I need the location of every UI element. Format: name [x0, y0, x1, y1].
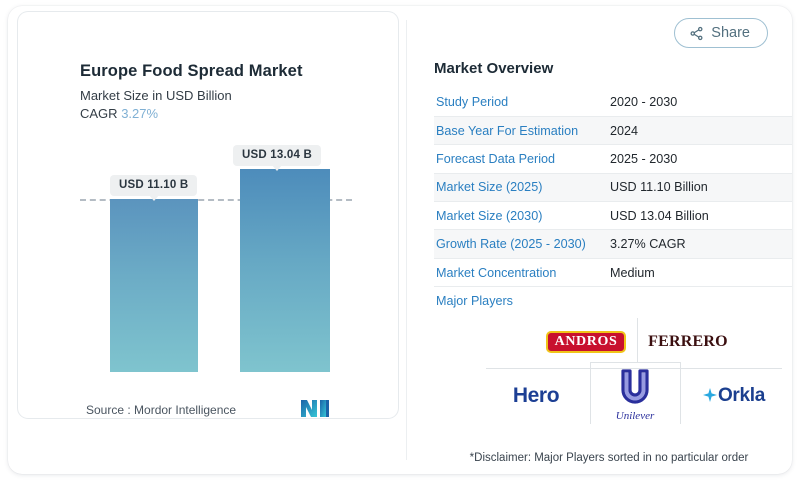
- chart-panel: Europe Food Spread Market Market Size in…: [18, 12, 398, 418]
- overview-value: USD 13.04 Billion: [608, 202, 792, 230]
- grid-line: [637, 318, 638, 362]
- bar-chart-plot: USD 11.10 B USD 13.04 B 2025 2030: [18, 142, 398, 372]
- overview-value: Medium: [608, 258, 792, 286]
- overview-value: 2024: [608, 116, 792, 144]
- table-row: Growth Rate (2025 - 2030) 3.27% CAGR: [434, 230, 792, 258]
- chart-cagr: CAGR 3.27%: [80, 106, 158, 121]
- andros-logo-label: ANDROS: [546, 331, 627, 354]
- grid-line: [590, 362, 591, 424]
- orkla-star-icon: [703, 387, 718, 405]
- table-row: Study Period 2020 - 2030: [434, 88, 792, 116]
- hero-logo-label: Hero: [513, 384, 559, 408]
- table-row: Base Year For Estimation 2024: [434, 116, 792, 144]
- table-row: Market Concentration Medium: [434, 258, 792, 286]
- player-logo-hero: Hero: [488, 374, 584, 418]
- overview-key: Market Size (2030): [434, 202, 608, 230]
- table-row: Major Players: [434, 287, 792, 315]
- player-logo-unilever: Unilever: [592, 366, 678, 424]
- bar-2025[interactable]: [110, 199, 198, 372]
- overview-key: Study Period: [434, 88, 608, 116]
- table-row: Market Size (2030) USD 13.04 Billion: [434, 202, 792, 230]
- cagr-label: CAGR: [80, 106, 118, 121]
- share-icon: [689, 26, 704, 41]
- chart-subtitle: Market Size in USD Billion: [80, 88, 232, 103]
- orkla-logo-label: Orkla: [703, 385, 765, 407]
- bar-2030[interactable]: [240, 169, 330, 372]
- player-logo-orkla: Orkla: [686, 374, 782, 418]
- overview-value: 2020 - 2030: [608, 88, 792, 116]
- player-logo-ferrero: FERRERO: [640, 322, 736, 362]
- major-players-logo-grid: ANDROS FERRERO Hero Unilever: [518, 318, 733, 418]
- overview-key: Growth Rate (2025 - 2030): [434, 230, 608, 258]
- overview-value: 2025 - 2030: [608, 145, 792, 173]
- bar-value-label-2030: USD 13.04 B: [233, 145, 321, 166]
- share-button-label: Share: [711, 25, 750, 41]
- disclaimer-text: *Disclaimer: Major Players sorted in no …: [426, 452, 792, 464]
- overview-key: Forecast Data Period: [434, 145, 608, 173]
- mordor-intelligence-logo-icon: [300, 398, 330, 418]
- overview-value: USD 11.10 Billion: [608, 173, 792, 201]
- overview-value: 3.27% CAGR: [608, 230, 792, 258]
- overview-key: Market Concentration: [434, 258, 608, 286]
- ferrero-logo-label: FERRERO: [648, 333, 728, 351]
- chart-source: Source : Mordor Intelligence: [86, 403, 236, 417]
- overview-value: [608, 287, 792, 315]
- player-logo-andros: ANDROS: [538, 322, 634, 362]
- chart-title: Europe Food Spread Market: [80, 62, 303, 81]
- table-row: Market Size (2025) USD 11.10 Billion: [434, 173, 792, 201]
- orkla-logo-text: Orkla: [718, 385, 765, 407]
- overview-key: Major Players: [434, 287, 608, 315]
- bar-value-label-2025: USD 11.10 B: [110, 175, 197, 196]
- panel-divider: [406, 20, 407, 460]
- overview-title: Market Overview: [434, 60, 553, 77]
- market-overview-panel: Market Overview Study Period 2020 - 2030…: [426, 12, 792, 474]
- table-row: Forecast Data Period 2025 - 2030: [434, 145, 792, 173]
- grid-line: [680, 362, 681, 424]
- unilever-u-icon: [618, 393, 652, 410]
- unilever-logo-label: Unilever: [616, 411, 654, 422]
- report-card: Share Europe Food Spread Market Market S…: [8, 6, 792, 474]
- grid-line: [590, 362, 681, 363]
- cagr-value: 3.27%: [121, 106, 158, 121]
- overview-key: Market Size (2025): [434, 173, 608, 201]
- market-overview-table: Study Period 2020 - 2030 Base Year For E…: [434, 88, 792, 315]
- share-button[interactable]: Share: [674, 18, 768, 48]
- overview-key: Base Year For Estimation: [434, 116, 608, 144]
